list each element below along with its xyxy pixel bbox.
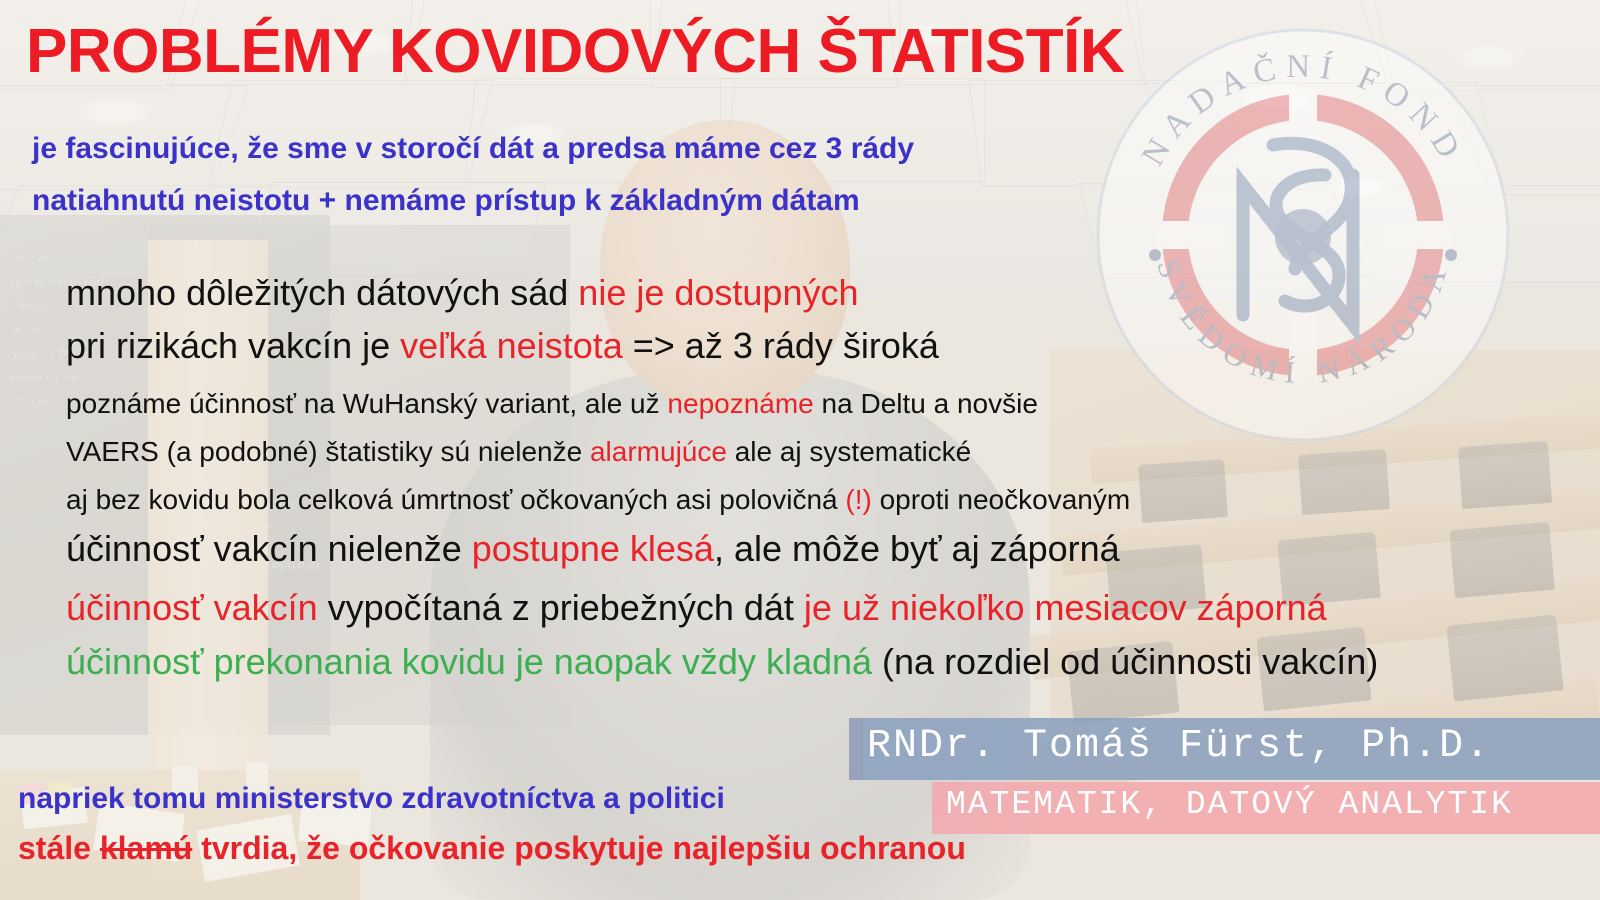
subtitle-line-2: natiahnutú neistotu + nemáme prístup k z…	[32, 184, 860, 218]
bullet-4-part-c: ale aj systematické	[727, 436, 971, 467]
bullet-1-part-a: mnoho dôležitých dátových sád	[66, 272, 578, 313]
bullet-3-part-c: na Deltu a novšie	[814, 388, 1038, 419]
page-title: PROBLÉMY KOVIDOVÝCH ŠTATISTÍK	[26, 16, 1124, 87]
bullet-4-part-a: VAERS (a podobné) štatistiky sú nielenže	[66, 436, 590, 467]
bullet-5-part-c: oproti neočkovaným	[872, 484, 1130, 515]
bullet-7-highlight: je už niekoľko mesiacov záporná	[804, 587, 1327, 628]
bullet-2-part-a: pri rizikách vakcín je	[66, 325, 400, 366]
bullet-8-highlight: účinnosť prekonania kovidu je naopak vžd…	[66, 641, 872, 682]
slide-canvas: a² + b² = c² ∫ f(x) dx = F(b)−F(a) λ(x,y…	[0, 0, 1600, 900]
bullet-1-highlight: nie je dostupných	[578, 272, 858, 313]
bullet-6-part-c: , ale môže byť aj záporná	[714, 528, 1120, 569]
bullet-7-part-b: vypočítaná z priebežných dát	[318, 587, 804, 628]
bullet-line-1: mnoho dôležitých dátových sád nie je dos…	[66, 272, 859, 314]
bullet-5-highlight: (!)	[845, 484, 871, 515]
bullet-line-6: účinnosť vakcín nielenže postupne klesá,…	[66, 528, 1120, 570]
bullet-line-8: účinnosť prekonania kovidu je naopak vžd…	[66, 641, 1378, 683]
bullet-8-part-b: (na rozdiel od účinnosti vakcín)	[872, 641, 1378, 682]
bullet-4-highlight: alarmujúce	[590, 436, 727, 467]
bullet-line-4: VAERS (a podobné) štatistiky sú nielenže…	[66, 436, 971, 468]
speaker-role-banner: MATEMATIK, DATOVÝ ANALYTIK	[932, 782, 1600, 834]
speaker-role: MATEMATIK, DATOVÝ ANALYTIK	[946, 786, 1513, 823]
footer-line-1: napriek tomu ministerstvo zdravotníctva …	[18, 782, 725, 816]
footer-2-prefix: stále	[18, 830, 100, 866]
bullet-3-part-a: poznáme účinnosť na WuHanský variant, al…	[66, 388, 667, 419]
bullet-5-part-a: aj bez kovidu bola celková úmrtnosť očko…	[66, 484, 845, 515]
bullet-line-5: aj bez kovidu bola celková úmrtnosť očko…	[66, 484, 1130, 516]
bullet-line-3: poznáme účinnosť na WuHanský variant, al…	[66, 388, 1038, 420]
bullet-line-7: účinnosť vakcín vypočítaná z priebežných…	[66, 587, 1327, 629]
subtitle-line-1: je fascinujúce, že sme v storočí dát a p…	[32, 132, 914, 166]
footer-2-suffix: tvrdia, že očkovanie poskytuje najlepšiu…	[192, 830, 966, 866]
footer-2-struck-word: klamú	[100, 830, 192, 866]
bullet-3-highlight: nepoznáme	[667, 388, 813, 419]
bullet-7-part-a: účinnosť vakcín	[66, 587, 318, 628]
speaker-name: RNDr. Tomáš Fürst, Ph.D.	[867, 724, 1491, 769]
speaker-name-banner: RNDr. Tomáš Fürst, Ph.D.	[849, 718, 1600, 780]
bullet-6-part-a: účinnosť vakcín nielenže	[66, 528, 472, 569]
bullet-6-highlight: postupne klesá	[472, 528, 714, 569]
bullet-2-part-c: => až 3 rády široká	[623, 325, 939, 366]
bullet-2-highlight: veľká neistota	[400, 325, 623, 366]
footer-line-2: stále klamú tvrdia, že očkovanie poskytu…	[18, 830, 966, 867]
bullet-line-2: pri rizikách vakcín je veľká neistota =>…	[66, 325, 939, 367]
